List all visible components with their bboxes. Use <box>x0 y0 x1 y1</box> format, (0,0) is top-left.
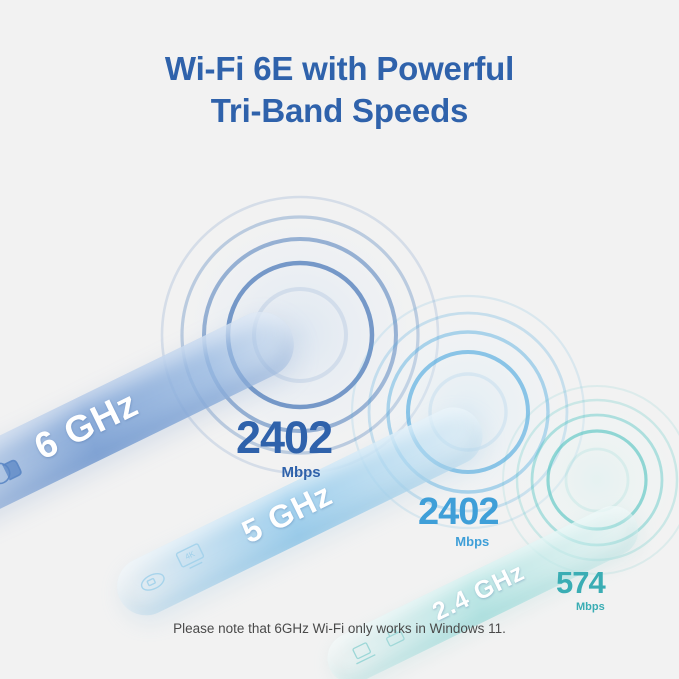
headline-line-2: Tri-Band Speeds <box>0 90 679 132</box>
speed-value-5ghz: 2402 <box>418 493 499 531</box>
speed-unit-5ghz: Mbps <box>446 535 499 548</box>
4k-monitor-icon: 4K <box>171 538 213 576</box>
speed-value-6ghz: 2402 <box>236 415 332 460</box>
speed-badge-5ghz: 2402 Mbps <box>418 493 499 548</box>
tri-band-illustration: 2.4 GHz 5 GHz 4K 6 G <box>0 150 679 610</box>
svg-text:4K: 4K <box>184 549 197 562</box>
speed-unit-6ghz: Mbps <box>270 465 332 480</box>
speed-badge-6ghz: 2402 Mbps <box>236 415 332 480</box>
vr-headset-icon <box>0 449 30 493</box>
speed-unit-24ghz: Mbps <box>576 602 605 613</box>
promo-graphic: Wi-Fi 6E with Powerful Tri-Band Speeds <box>0 0 679 679</box>
laptop-icon <box>347 637 380 668</box>
headline-line-1: Wi-Fi 6E with Powerful <box>165 50 514 87</box>
game-controller-icon <box>134 565 171 600</box>
page-title: Wi-Fi 6E with Powerful Tri-Band Speeds <box>0 48 679 132</box>
speed-value-24ghz: 574 <box>556 567 605 598</box>
footnote-text: Please note that 6GHz Wi-Fi only works i… <box>0 620 679 638</box>
speed-badge-24ghz: 574 Mbps <box>556 567 605 613</box>
